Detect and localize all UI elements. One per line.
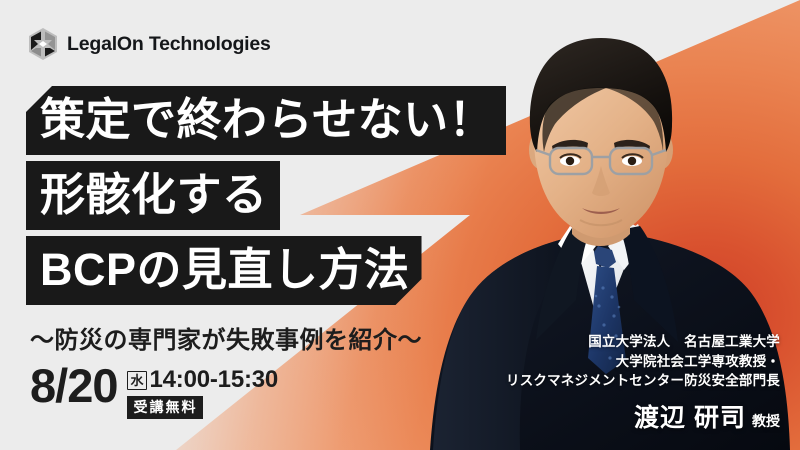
schedule-time-row: 水 14:00-15:30	[127, 368, 278, 392]
price-badge: 受講無料	[127, 396, 203, 419]
day-of-week-badge: 水	[127, 371, 146, 390]
speaker-affiliation-line-2: 大学院社会工学専攻教授・	[506, 352, 780, 372]
headline-row-1: 策定で終わらせない！	[0, 86, 506, 155]
headline-line-2: 形骸化する	[26, 161, 280, 230]
headline-line-1: 策定で終わらせない！	[26, 86, 506, 155]
headline-block: 策定で終わらせない！ 形骸化する BCPの見直し方法	[0, 86, 506, 305]
speaker-name: 渡辺 研司	[634, 398, 746, 434]
webinar-banner: LegalOn Technologies 策定で終わらせない！ 形骸化する BC…	[0, 0, 800, 450]
headline-line-3: BCPの見直し方法	[26, 236, 422, 305]
speaker-affiliation-line-3: リスクマネジメントセンター防災安全部門長	[506, 371, 780, 391]
schedule-block: 8/20 水 14:00-15:30 受講無料	[30, 362, 278, 419]
speaker-caption: 国立大学法人 名古屋工業大学 大学院社会工学専攻教授・ リスクマネジメントセンタ…	[506, 332, 780, 434]
headline-row-3: BCPの見直し方法	[0, 236, 506, 305]
subtitle: 〜防災の専門家が失敗事例を紹介〜	[30, 320, 422, 355]
speaker-title: 教授	[752, 411, 780, 431]
event-date: 8/20	[30, 362, 117, 409]
brand-logo[interactable]: LegalOn Technologies	[28, 28, 271, 60]
speaker-affiliation-line-1: 国立大学法人 名古屋工業大学	[506, 332, 780, 352]
schedule-details: 水 14:00-15:30 受講無料	[127, 362, 278, 419]
event-time: 14:00-15:30	[150, 368, 279, 392]
brand-name: LegalOn Technologies	[67, 33, 271, 56]
legalon-hexagon-logo-icon	[28, 28, 58, 60]
headline-row-2: 形骸化する	[0, 161, 506, 230]
speaker-name-row: 渡辺 研司 教授	[506, 398, 780, 434]
